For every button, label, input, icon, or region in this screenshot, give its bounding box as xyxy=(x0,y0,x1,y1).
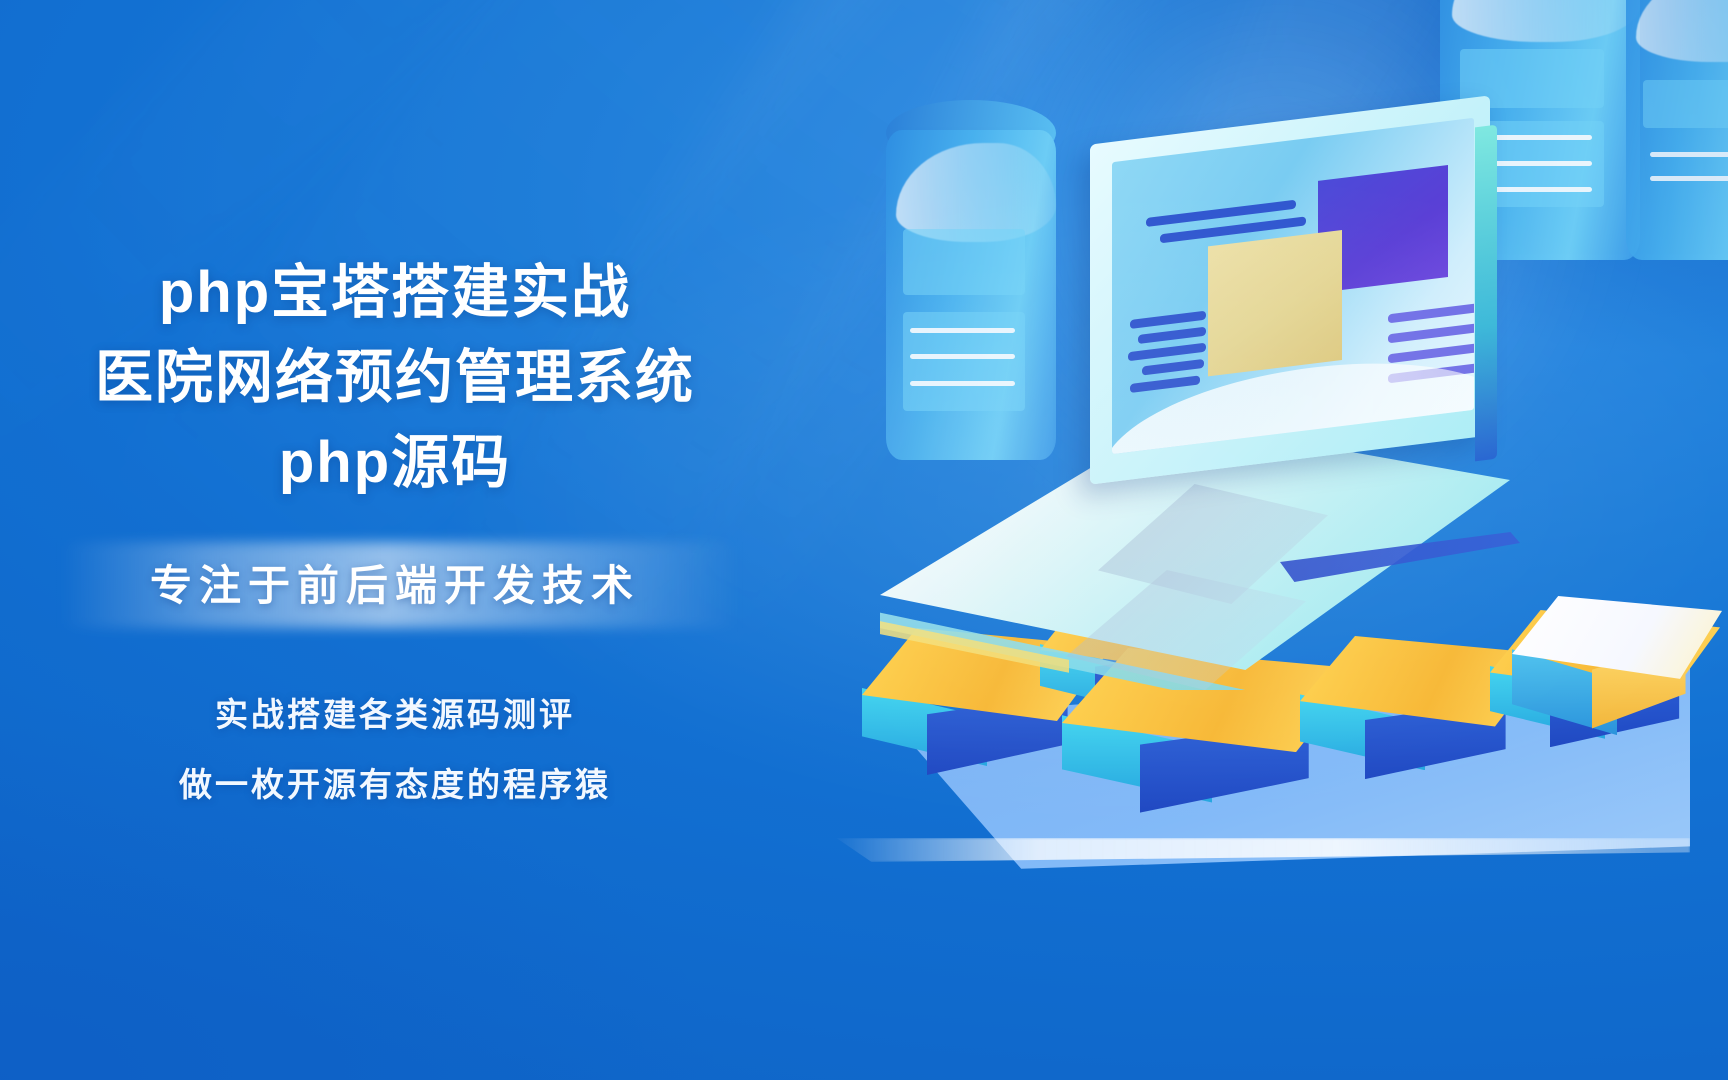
cylinder-stripe xyxy=(1650,176,1728,181)
subtitle-text: 专注于前后端开发技术 xyxy=(0,552,790,613)
screen-text-line xyxy=(1130,375,1200,393)
tagline-line-1: 实战搭建各类源码测评 xyxy=(0,688,790,736)
screen-text-line xyxy=(1388,303,1474,324)
cylinder-panel xyxy=(1643,80,1728,128)
database-cylinder-icon xyxy=(1626,0,1728,260)
headline-line-2: 医院网络预约管理系统 xyxy=(0,347,790,410)
laptop-lid-edge xyxy=(1475,125,1497,462)
screen-text-line xyxy=(1388,323,1474,344)
screen-text-line xyxy=(1128,343,1206,362)
cylinder-stripe xyxy=(1650,152,1728,157)
tagline-line-2: 做一枚开源有态度的程序猿 xyxy=(0,758,790,806)
headline-line-3: php源码 xyxy=(0,432,790,495)
promo-banner: php宝塔搭建实战 医院网络预约管理系统 php源码 专注于前后端开发技术 实战… xyxy=(0,0,1728,1080)
screen-text-line xyxy=(1388,343,1474,364)
laptop-screen xyxy=(1112,118,1474,454)
hero-illustration xyxy=(800,0,1728,1080)
screen-text-line xyxy=(1142,359,1204,376)
screen-yellow-panel xyxy=(1208,230,1342,376)
screen-text-line xyxy=(1138,327,1206,344)
laptop-illustration xyxy=(820,100,1520,720)
screen-text-line xyxy=(1130,311,1206,329)
headline-block: php宝塔搭建实战 医院网络预约管理系统 php源码 专注于前后端开发技术 实战… xyxy=(0,0,790,1080)
white-cube xyxy=(1512,596,1722,744)
headline-line-1: php宝塔搭建实战 xyxy=(0,262,790,325)
